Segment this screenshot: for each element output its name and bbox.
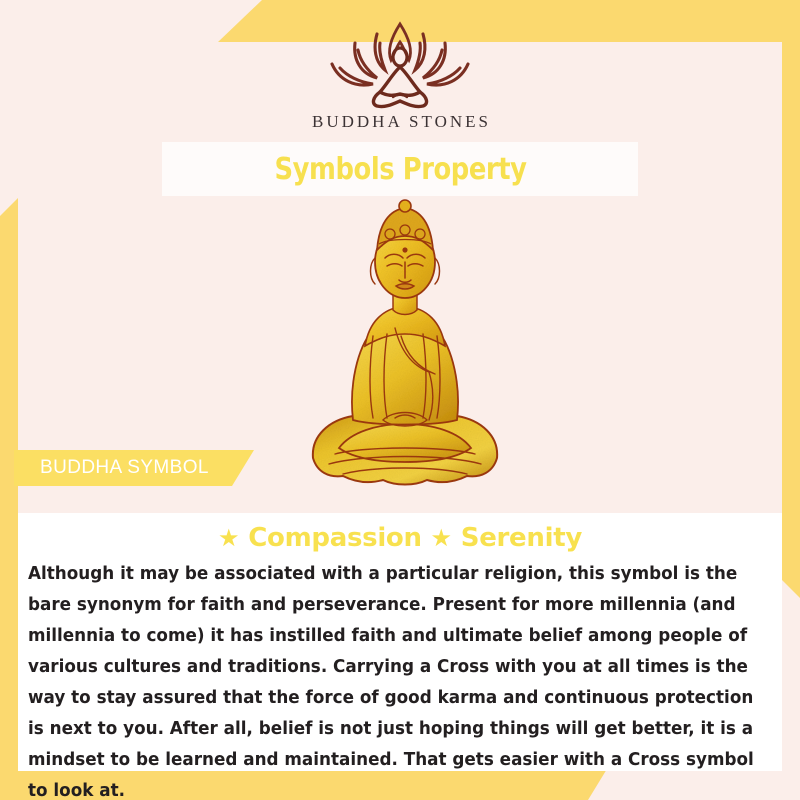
description-paragraph: Although it may be associated with a par…: [28, 559, 773, 800]
buddha-symbol-ribbon: BUDDHA SYMBOL: [14, 450, 254, 486]
brand-wordmark: BUDDHA STONES: [0, 112, 800, 132]
tagline-first: Compassion: [248, 523, 421, 553]
content-card: ★ Compassion ★ Serenity Although it may …: [18, 513, 782, 771]
title-band: Symbols Property: [162, 142, 638, 196]
brand-logo: BUDDHA STONES: [0, 18, 800, 132]
page-title: Symbols Property: [274, 152, 526, 187]
ribbon-label: BUDDHA SYMBOL: [14, 457, 209, 479]
golden-buddha-statue: [295, 196, 515, 496]
decor-left-strip: [0, 198, 18, 800]
star-icon-2: ★: [430, 524, 452, 552]
infographic-page: BUDDHA STONES Symbols Property: [0, 0, 800, 800]
lotus-meditation-icon: [0, 18, 800, 110]
tagline-second: Serenity: [461, 523, 582, 553]
star-icon-1: ★: [218, 524, 240, 552]
tagline: ★ Compassion ★ Serenity: [18, 523, 782, 553]
